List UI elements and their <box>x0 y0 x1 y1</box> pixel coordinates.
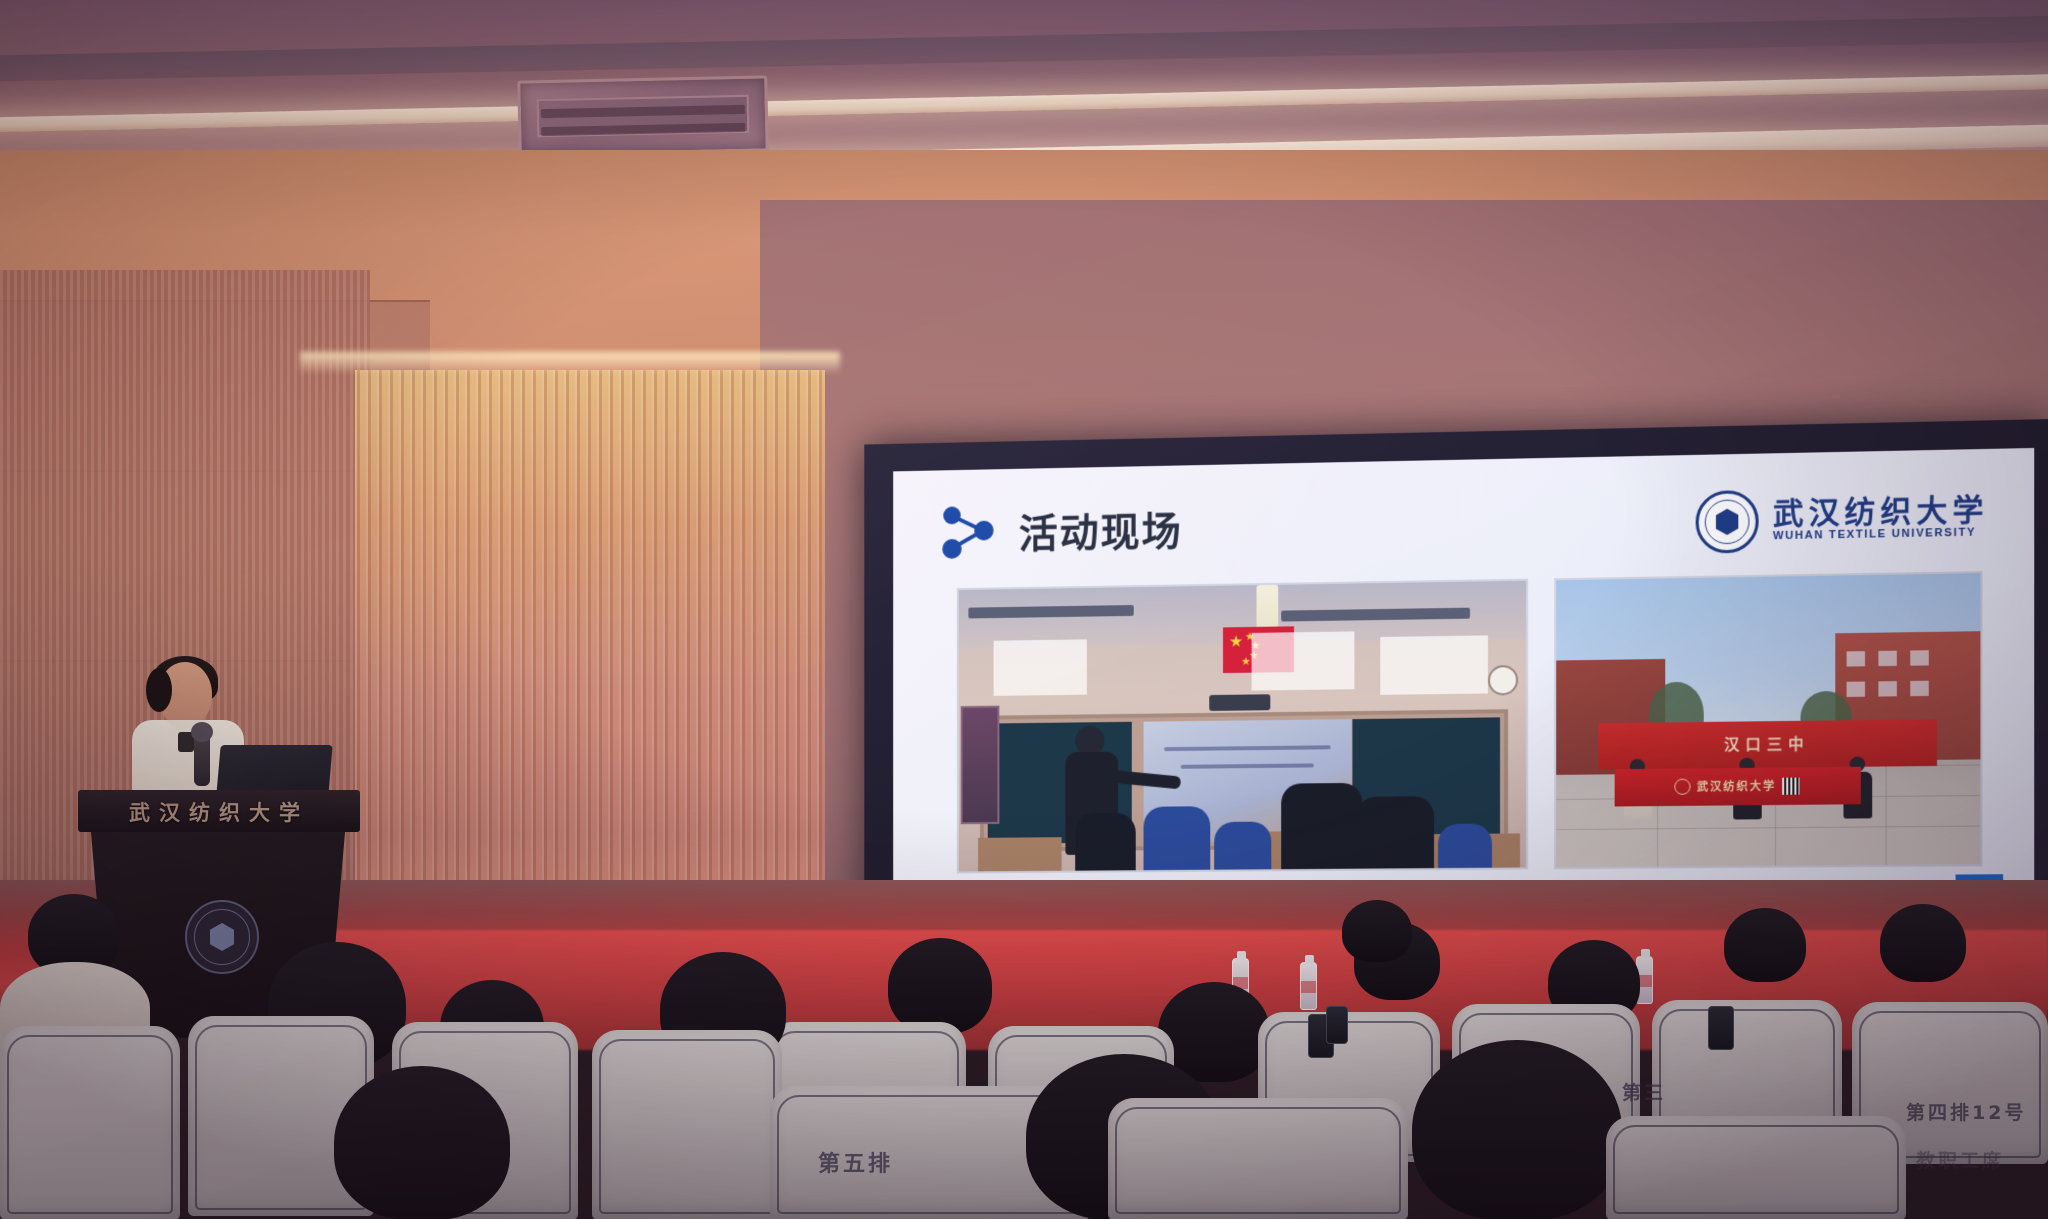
slide-photo-campus: 汉口三中 武汉 <box>1554 571 1982 869</box>
student <box>1144 806 1211 870</box>
student <box>1356 796 1434 869</box>
student <box>1438 824 1492 868</box>
ceiling-light-strip-1 <box>0 72 2048 133</box>
ceiling-band <box>0 14 2048 82</box>
university-name-en: WUHAN TEXTILE UNIVERSITY <box>1773 527 1989 543</box>
slide-header: 活动现场 <box>939 499 1182 561</box>
screen-text-line <box>1180 763 1313 768</box>
window <box>1878 650 1897 666</box>
window <box>1878 681 1897 697</box>
audience-head <box>1724 908 1806 982</box>
auditorium-seat-front[interactable] <box>1606 1116 1906 1219</box>
microphone-icon <box>194 732 210 786</box>
share-node-icon <box>939 503 999 561</box>
smartphone[interactable] <box>1708 1006 1734 1050</box>
audience-head <box>334 1066 510 1219</box>
projector-icon <box>1209 694 1270 711</box>
student <box>1214 822 1271 870</box>
seat-label-row5: 第五排 <box>818 1146 893 1178</box>
qr-code-icon <box>1783 777 1800 794</box>
slide-photo-classroom <box>957 579 1528 874</box>
flag-star <box>1241 657 1250 666</box>
window <box>1846 682 1865 698</box>
podium-university-seal-icon <box>185 900 259 974</box>
university-seal-icon <box>1696 490 1759 554</box>
smartphone[interactable] <box>1326 1006 1348 1044</box>
seat-label-staff: 教职工席 <box>1916 1146 2004 1173</box>
seat-label-row4-seat12: 第四排12号 <box>1906 1098 2026 1125</box>
presentation-slide[interactable]: 活动现场 武汉纺织大学 WUHAN TEXTILE UNIVERSITY <box>893 448 2034 925</box>
wall-poster <box>1380 635 1488 694</box>
screen-text-line <box>1164 745 1330 751</box>
window <box>1846 651 1865 667</box>
banner-text: 武汉纺织大学 <box>1697 778 1776 795</box>
wall-wash-light <box>300 352 840 374</box>
audience-head <box>888 938 992 1034</box>
slide-university-logo: 武汉纺织大学 WUHAN TEXTILE UNIVERSITY <box>1696 486 1989 554</box>
backdrop-text: 汉口三中 <box>1598 731 1937 756</box>
wall-slats-center <box>355 370 825 950</box>
water-bottle <box>1300 962 1317 1010</box>
classroom-side-poster <box>961 706 1000 825</box>
university-name-cn: 武汉纺织大学 <box>1773 495 1989 531</box>
auditorium-seat[interactable] <box>0 1026 180 1219</box>
seat-label-row3: 第三 <box>1622 1078 1666 1105</box>
screen-inner-bezel: 活动现场 武汉纺织大学 WUHAN TEXTILE UNIVERSITY <box>893 448 2034 925</box>
window <box>1910 650 1929 666</box>
student <box>1281 783 1362 869</box>
air-conditioner-vent <box>517 75 769 156</box>
university-banner: 武汉纺织大学 <box>1615 766 1861 806</box>
auditorium-seat[interactable] <box>592 1030 782 1219</box>
podium-name-text: 武汉纺织大学 <box>78 795 360 829</box>
window <box>1910 681 1929 697</box>
audience-head <box>1880 904 1966 982</box>
led-screen[interactable]: 活动现场 武汉纺织大学 WUHAN TEXTILE UNIVERSITY <box>864 419 2048 943</box>
auditorium-photo-scene: 活动现场 武汉纺织大学 WUHAN TEXTILE UNIVERSITY <box>0 0 2048 1219</box>
audience-head <box>1412 1040 1622 1219</box>
wall-poster <box>1252 631 1355 690</box>
slide-title: 活动现场 <box>1019 499 1183 559</box>
speaker-hair-side <box>146 668 172 712</box>
university-name-block: 武汉纺织大学 WUHAN TEXTILE UNIVERSITY <box>1773 495 1989 543</box>
flag-star <box>1230 635 1243 648</box>
student <box>1075 813 1136 871</box>
audience-head <box>1342 900 1412 962</box>
student-desk <box>978 837 1061 871</box>
wall-poster <box>994 639 1087 696</box>
auditorium-seat-front[interactable] <box>1108 1098 1408 1219</box>
tile-line <box>1556 826 1980 831</box>
banner-seal-icon <box>1675 779 1691 795</box>
